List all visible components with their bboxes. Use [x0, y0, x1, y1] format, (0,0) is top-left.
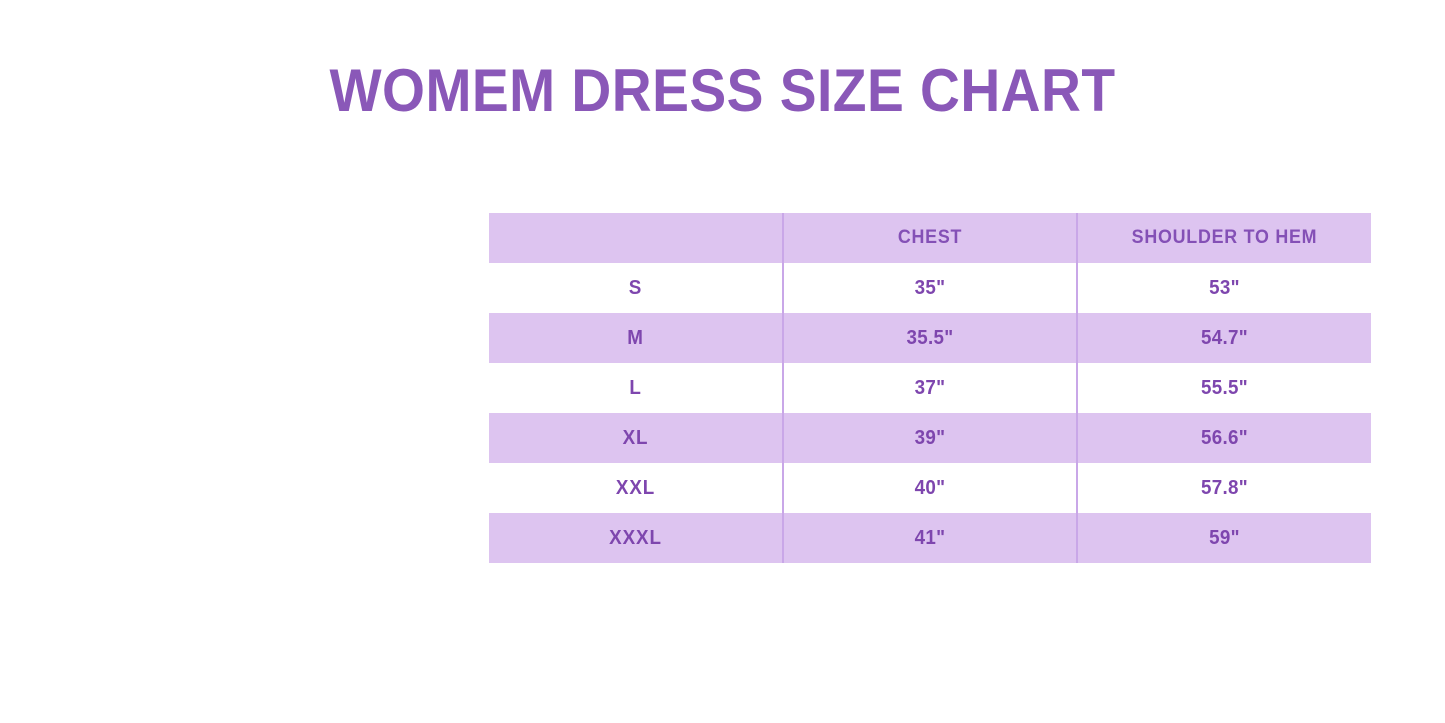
- table-row: XXXL 41" 59": [489, 513, 1371, 563]
- page-title: WOMEM DRESS SIZE CHART: [58, 55, 1387, 127]
- cell-size: L: [498, 363, 774, 413]
- size-chart-page: WOMEM DRESS SIZE CHART CHEST SHOULDER TO…: [0, 0, 1445, 723]
- table-header: CHEST SHOULDER TO HEM: [489, 213, 1371, 263]
- table-row: XXL 40" 57.8": [489, 463, 1371, 513]
- cell-chest: 41": [792, 513, 1068, 563]
- table-row: S 35" 53": [489, 263, 1371, 313]
- cell-chest: 37": [792, 363, 1068, 413]
- cell-shoulder-to-hem: 53": [1086, 263, 1362, 313]
- cell-chest: 35.5": [792, 313, 1068, 363]
- column-header-chest: CHEST: [792, 213, 1068, 263]
- cell-shoulder-to-hem: 59": [1086, 513, 1362, 563]
- table-body: S 35" 53" M 35.5" 54.7" L 37" 55.5" XL 3…: [489, 263, 1371, 563]
- size-chart-table: CHEST SHOULDER TO HEM S 35" 53" M 35.5" …: [489, 213, 1371, 563]
- cell-size: XL: [498, 413, 774, 463]
- cell-size: M: [498, 313, 774, 363]
- cell-chest: 39": [792, 413, 1068, 463]
- cell-size: XXL: [498, 463, 774, 513]
- cell-size: XXXL: [498, 513, 774, 563]
- column-header-shoulder-to-hem: SHOULDER TO HEM: [1086, 213, 1362, 263]
- cell-chest: 35": [792, 263, 1068, 313]
- table-row: M 35.5" 54.7": [489, 313, 1371, 363]
- cell-shoulder-to-hem: 54.7": [1086, 313, 1362, 363]
- table-header-row: CHEST SHOULDER TO HEM: [489, 213, 1371, 263]
- column-header-size: [498, 213, 774, 263]
- table-row: XL 39" 56.6": [489, 413, 1371, 463]
- cell-chest: 40": [792, 463, 1068, 513]
- cell-size: S: [498, 263, 774, 313]
- table-row: L 37" 55.5": [489, 363, 1371, 413]
- cell-shoulder-to-hem: 55.5": [1086, 363, 1362, 413]
- cell-shoulder-to-hem: 56.6": [1086, 413, 1362, 463]
- cell-shoulder-to-hem: 57.8": [1086, 463, 1362, 513]
